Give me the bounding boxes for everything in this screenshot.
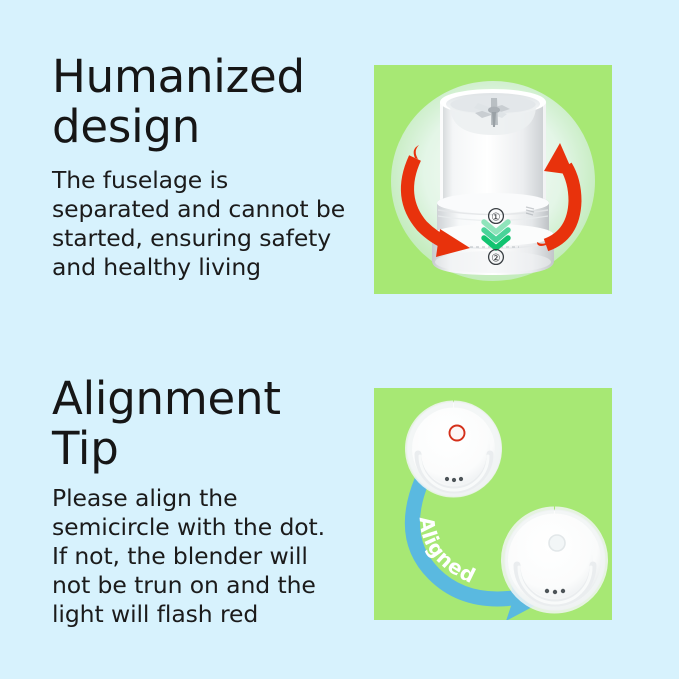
blender-separation-diagram: ① ② [374,65,612,294]
base-alignment-diagram: Aligned [374,388,612,620]
humanized-illustration-panel: ① ② [374,65,612,294]
humanized-body-text: The fuselage is separated and cannot be … [52,152,374,282]
humanized-text-column: Humanized design The fuselage is separat… [52,52,374,282]
indicator-light-red [450,426,465,441]
alignment-headline: Alignment Tip [52,374,374,474]
alignment-illustration-panel: Aligned [374,388,612,620]
step-marker-two-label: ② [491,252,500,264]
humanized-headline: Humanized design [52,52,374,152]
section-humanized-design: Humanized design The fuselage is separat… [0,0,679,340]
infographic-page: Humanized design The fuselage is separat… [0,0,679,679]
indicator-light-white [549,535,565,551]
section-alignment-tip: Alignment Tip Please align the semicircl… [0,340,679,679]
alignment-body-text: Please align the semicircle with the dot… [52,474,374,629]
step-marker-one-label: ① [491,211,500,223]
base-top-misaligned [407,402,501,496]
base-bottom-aligned [505,510,606,610]
alignment-text-column: Alignment Tip Please align the semicircl… [52,374,374,629]
